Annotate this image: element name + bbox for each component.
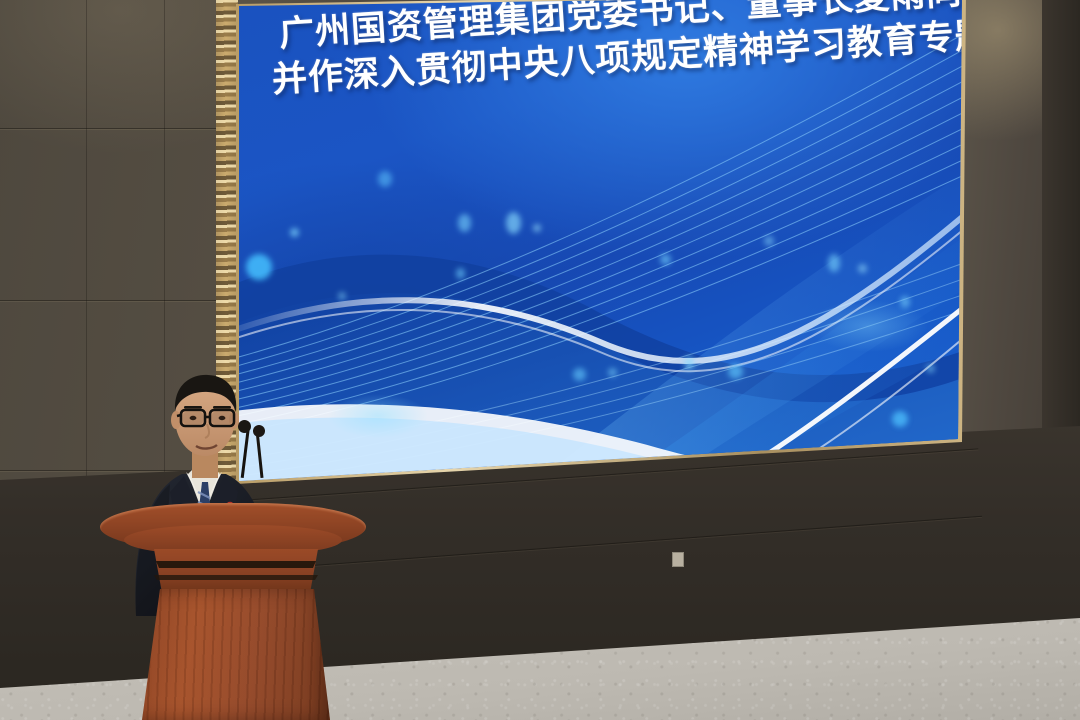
led-screen: 广州国资管理集团党委书记、董事长夏雨同志讲话 并作深入贯彻中央八项规定精神学习教… xyxy=(228,0,966,488)
bokeh-dot xyxy=(828,254,840,272)
bokeh-dot xyxy=(608,368,617,377)
wall-outlet xyxy=(672,552,684,567)
bokeh-dot xyxy=(892,411,908,427)
bokeh-dot xyxy=(338,292,346,300)
bokeh-dot xyxy=(506,212,521,234)
bokeh-dot xyxy=(728,364,743,379)
bokeh-dot xyxy=(290,228,299,237)
photo-scene: 广州国资管理集团党委书记、董事长夏雨同志讲话 并作深入贯彻中央八项规定精神学习教… xyxy=(0,0,1080,720)
bokeh-dot xyxy=(684,356,694,370)
bokeh-dot xyxy=(573,368,586,381)
bokeh-dot xyxy=(900,296,910,308)
bokeh-dot xyxy=(660,254,671,265)
podium-accent-band xyxy=(152,561,320,568)
podium-body xyxy=(142,589,330,720)
bokeh-dot xyxy=(458,214,471,232)
bokeh-dot xyxy=(926,364,935,373)
bokeh-dot xyxy=(858,264,867,273)
bokeh-dot xyxy=(246,254,272,280)
wood-grain xyxy=(142,589,330,720)
bokeh-dot xyxy=(533,224,541,232)
bokeh-dot xyxy=(764,236,774,246)
bokeh-dot xyxy=(456,268,465,279)
podium-neck xyxy=(148,549,324,593)
podium xyxy=(100,497,366,720)
